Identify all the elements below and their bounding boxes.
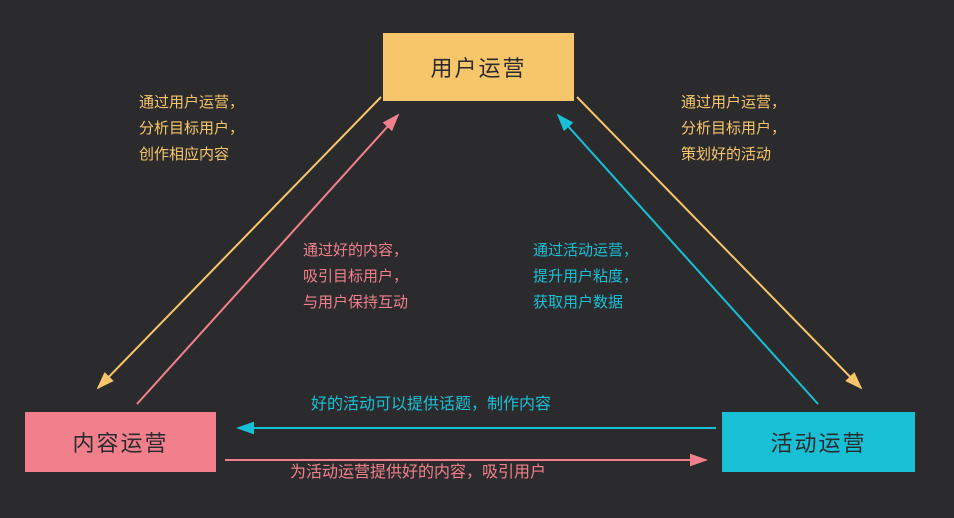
diagram-canvas: 用户运营 内容运营 活动运营 通过用户运营， 分析目标用户， 创作相应内容 通过…: [0, 0, 954, 518]
edge-label-top-left: 通过用户运营， 分析目标用户， 创作相应内容: [139, 90, 244, 168]
edge-label-mid-left: 通过好的内容， 吸引目标用户， 与用户保持互动: [303, 238, 408, 316]
edge-label-top-right: 通过用户运营， 分析目标用户， 策划好的活动: [681, 90, 786, 168]
edge-label-mid-right: 通过活动运营， 提升用户粘度， 获取用户数据: [533, 238, 638, 316]
node-event-operations-label: 活动运营: [770, 426, 866, 458]
node-event-operations[interactable]: 活动运营: [722, 412, 915, 472]
node-content-operations-label: 内容运营: [72, 426, 168, 458]
node-content-operations[interactable]: 内容运营: [25, 412, 216, 472]
edge-label-bottom-lower: 为活动运营提供好的内容，吸引用户: [290, 460, 546, 486]
node-user-operations[interactable]: 用户运营: [383, 33, 574, 101]
edge-label-bottom-upper: 好的活动可以提供话题，制作内容: [311, 392, 551, 418]
node-user-operations-label: 用户运营: [430, 51, 526, 83]
